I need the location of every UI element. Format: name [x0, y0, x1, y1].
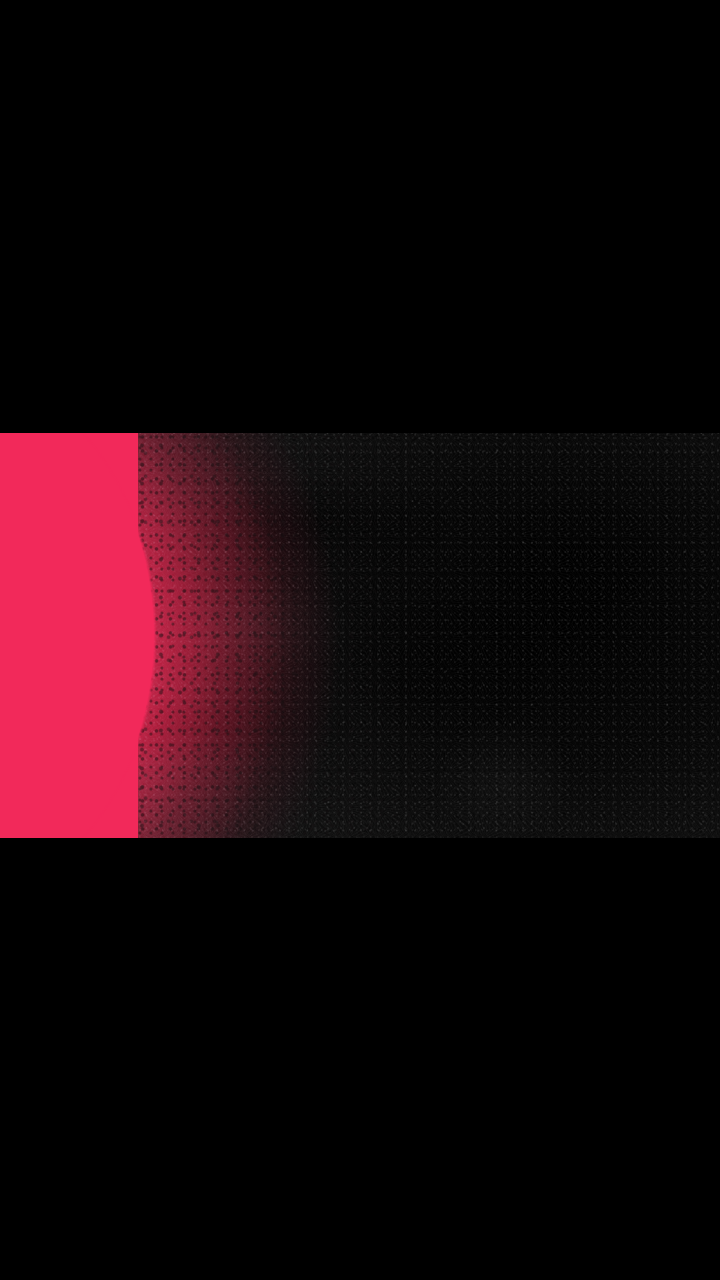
episode-banner: TODD HAMPSON Rise in Antisemitism, Repla…: [0, 433, 720, 838]
video-frame: TODD HAMPSON Rise in Antisemitism, Repla…: [0, 0, 720, 1280]
magenta-panel-arc: [0, 433, 300, 838]
